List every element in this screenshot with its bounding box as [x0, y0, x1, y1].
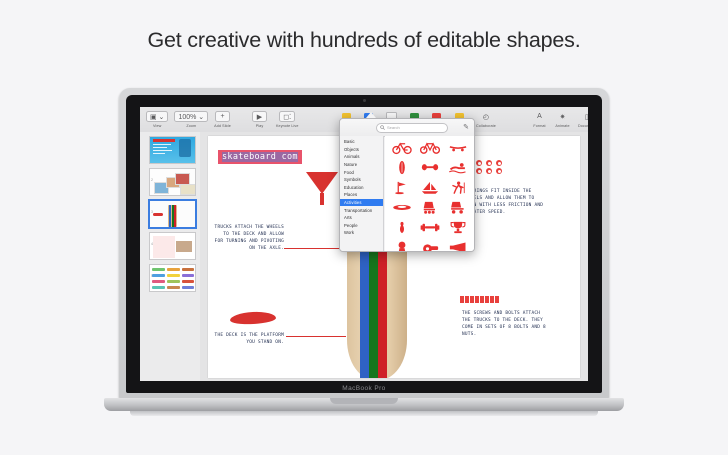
red-funnel-neck	[320, 193, 324, 205]
category-places[interactable]: Places	[340, 191, 383, 199]
search-icon	[380, 125, 385, 130]
play-icon: ▶	[252, 111, 267, 122]
category-objects[interactable]: Objects	[340, 146, 383, 154]
tandem-bicycle-icon[interactable]	[420, 139, 440, 156]
laptop-notch	[330, 398, 398, 404]
toolbar-button-document[interactable]: ▯ Document	[578, 111, 588, 128]
toolbar-button-zoom[interactable]: 100% ⌄ Zoom	[174, 111, 208, 128]
toolbar-button-format[interactable]: A Format	[532, 111, 547, 128]
red-funnel-shape	[306, 172, 338, 194]
macbook-pro-mockup: MacBook Pro ▣ ⌄ View 100% ⌄ Zoom	[104, 88, 624, 428]
keynote-live-icon: ◻⁚	[279, 111, 295, 122]
category-education[interactable]: Education	[340, 184, 383, 192]
toolbar-button-animate[interactable]: ✷ Animate	[555, 111, 570, 128]
text-block-bearings[interactable]: BEARINGS FIT INSIDE THE WHEELS AND ALLOW…	[465, 188, 545, 217]
toolbar-button-add-slide[interactable]: + Add Slide	[214, 111, 231, 128]
keynote-app-window: ▣ ⌄ View 100% ⌄ Zoom + Add Slide	[140, 107, 588, 381]
shape-search-input[interactable]: Search	[376, 123, 448, 133]
toolbar-button-collaborate[interactable]: ◴ Collaborate	[476, 111, 496, 128]
toolbar-button-keynote-live[interactable]: ◻⁚ Keynote Live	[276, 111, 299, 128]
leader-line-deck	[286, 336, 346, 337]
toolbar-collaborate-group: ◴ Collaborate	[476, 111, 496, 128]
collaborate-icon: ◴	[478, 111, 493, 122]
category-nature[interactable]: Nature	[340, 161, 383, 169]
popover-header: Search ✎	[340, 119, 474, 137]
slide-thumbnail-1[interactable]: 1	[149, 136, 196, 164]
toolbar-button-view[interactable]: ▣ ⌄ View	[146, 111, 168, 128]
category-arts[interactable]: Arts	[340, 214, 383, 222]
edit-pencil-icon[interactable]: ✎	[463, 124, 469, 131]
rollerblade-icon[interactable]	[420, 199, 440, 216]
view-icon: ▣ ⌄	[146, 111, 168, 122]
zoom-value: 100% ⌄	[174, 111, 208, 122]
toolbar-right-group: A Format ✷ Animate ▯ Document	[532, 111, 588, 128]
laptop-foot	[130, 411, 598, 416]
format-icon: A	[532, 111, 547, 122]
category-activities[interactable]: Activities	[340, 199, 383, 207]
whistle-icon[interactable]	[420, 239, 440, 252]
category-work[interactable]: Work	[340, 229, 383, 237]
sailboat-icon[interactable]	[420, 179, 440, 196]
trophy-icon[interactable]	[448, 219, 468, 236]
dumbbell-icon[interactable]	[420, 219, 440, 236]
page-headline: Get creative with hundreds of editable s…	[0, 28, 728, 53]
frisbee-icon[interactable]	[392, 199, 412, 216]
hiker-icon[interactable]	[448, 179, 468, 196]
webcam-icon	[363, 99, 366, 102]
slide-thumbnail-3[interactable]: 3	[149, 200, 196, 228]
category-basic[interactable]: Basic	[340, 138, 383, 146]
text-block-screws[interactable]: THE SCREWS AND BOLTS ATTACH THE TRUCKS T…	[462, 310, 546, 339]
slide-thumbnail-2[interactable]: 2	[149, 168, 196, 196]
slide-navigator[interactable]: 1 2	[140, 132, 201, 381]
bowling-pin-icon[interactable]	[392, 219, 412, 236]
toolbar-button-play[interactable]: ▶ Play	[252, 111, 267, 128]
laptop-bezel: MacBook Pro ▣ ⌄ View 100% ⌄ Zoom	[126, 95, 602, 393]
golf-flag-icon[interactable]	[392, 179, 412, 196]
category-transportation[interactable]: Transportation	[340, 206, 383, 214]
surfboard-icon[interactable]	[392, 159, 412, 176]
text-block-trucks[interactable]: TRUCKS ATTACH THE WHEELS TO THE DECK AND…	[212, 224, 284, 253]
shape-category-list[interactable]: Basic Objects Animals Nature Food Symbol…	[340, 136, 384, 251]
nut-row-graphic	[460, 296, 499, 303]
category-people[interactable]: People	[340, 222, 383, 230]
toolbar-play-group: ▶ Play ◻⁚ Keynote Live	[252, 111, 299, 128]
popover-arrow	[366, 112, 376, 118]
device-model-label: MacBook Pro	[126, 385, 602, 392]
roller-skate-icon[interactable]	[448, 199, 468, 216]
toolbar-left-group: ▣ ⌄ View 100% ⌄ Zoom + Add Slide	[146, 111, 231, 128]
slide-title[interactable]: skateboard com	[218, 150, 302, 164]
category-food[interactable]: Food	[340, 168, 383, 176]
add-slide-icon: +	[215, 111, 230, 122]
megaphone-icon[interactable]	[448, 239, 468, 252]
ribbon-icon[interactable]	[392, 239, 412, 252]
search-placeholder: Search	[387, 125, 400, 130]
animate-icon: ✷	[555, 111, 570, 122]
slide-thumbnail-5[interactable]: 5	[149, 264, 196, 292]
swimmer-icon[interactable]	[448, 159, 468, 176]
skateboard-icon[interactable]	[448, 139, 468, 156]
text-block-deck[interactable]: THE DECK IS THE PLATFORM YOU STAND ON.	[214, 332, 284, 346]
laptop-lid: MacBook Pro ▣ ⌄ View 100% ⌄ Zoom	[119, 88, 609, 400]
red-blob-shape	[230, 311, 277, 325]
shapes-popover[interactable]: Search ✎ Basic Objects Animals Nature Fo…	[339, 118, 475, 252]
shape-grid[interactable]	[385, 136, 474, 251]
document-icon: ▯	[579, 111, 588, 122]
bicycle-icon[interactable]	[392, 139, 412, 156]
paddle-icon[interactable]	[420, 159, 440, 176]
slide-thumbnail-4[interactable]: 4	[149, 232, 196, 260]
category-animals[interactable]: Animals	[340, 153, 383, 161]
category-symbols[interactable]: Symbols	[340, 176, 383, 184]
